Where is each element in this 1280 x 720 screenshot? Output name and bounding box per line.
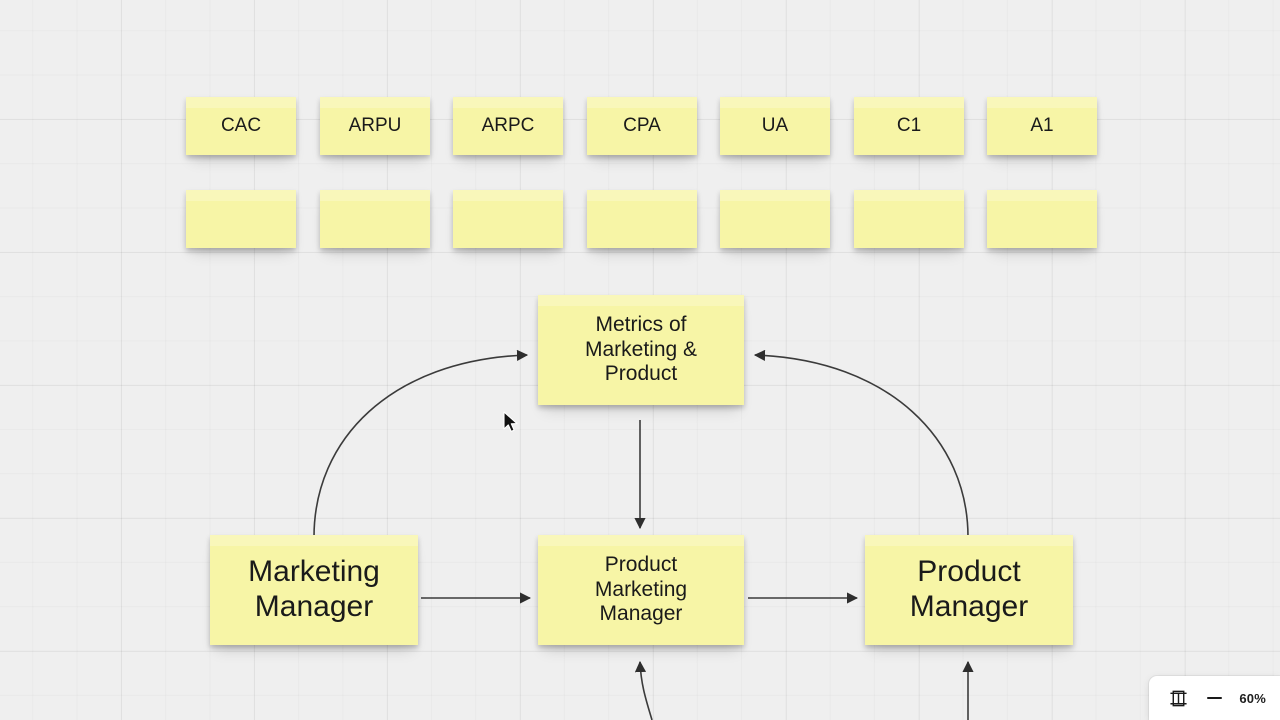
sticky-note-metrics-of-marketing-and-product[interactable]: Metrics of Marketing & Product: [538, 295, 744, 405]
sticky-note-cpa[interactable]: CPA: [587, 97, 697, 155]
fit-to-screen-icon[interactable]: [1167, 687, 1189, 709]
sticky-note-label: Product Marketing Manager: [589, 553, 693, 626]
sticky-note-ua[interactable]: UA: [720, 97, 830, 155]
sticky-note-label: Metrics of Marketing & Product: [579, 313, 703, 386]
sticky-note-arpc[interactable]: ARPC: [453, 97, 563, 155]
zoom-level-label[interactable]: 60%: [1239, 691, 1266, 706]
sticky-note-arpu[interactable]: ARPU: [320, 97, 430, 155]
sticky-note-product-manager[interactable]: Product Manager: [865, 535, 1073, 645]
sticky-note-empty-5[interactable]: [720, 190, 830, 248]
sticky-note-label: Marketing Manager: [242, 555, 386, 625]
sticky-note-empty-4[interactable]: [587, 190, 697, 248]
sticky-note-c1[interactable]: C1: [854, 97, 964, 155]
sticky-note-empty-6[interactable]: [854, 190, 964, 248]
sticky-note-label: A1: [1024, 115, 1059, 137]
connector-product-manager-to-metrics: [755, 355, 968, 537]
sticky-note-cac[interactable]: CAC: [186, 97, 296, 155]
sticky-note-product-marketing-manager[interactable]: Product Marketing Manager: [538, 535, 744, 645]
sticky-note-label: CAC: [215, 115, 267, 137]
sticky-note-label: C1: [891, 115, 927, 137]
whiteboard-canvas[interactable]: CAC ARPU ARPC CPA UA C1 A1: [0, 0, 1280, 720]
zoom-controls[interactable]: 60%: [1149, 676, 1280, 720]
sticky-note-label: ARPC: [476, 115, 541, 137]
sticky-note-empty-7[interactable]: [987, 190, 1097, 248]
sticky-note-empty-1[interactable]: [186, 190, 296, 248]
connector-marketing-manager-to-metrics: [314, 355, 527, 537]
sticky-note-label: Product Manager: [904, 555, 1034, 625]
sticky-note-empty-3[interactable]: [453, 190, 563, 248]
sticky-note-label: CPA: [617, 115, 667, 137]
minus-icon: [1207, 697, 1222, 699]
zoom-out-button[interactable]: [1203, 687, 1225, 709]
mouse-pointer-icon: [503, 411, 521, 435]
sticky-note-label: ARPU: [343, 115, 408, 137]
sticky-note-empty-2[interactable]: [320, 190, 430, 248]
connector-offscreen-to-product-marketing-manager: [640, 662, 652, 720]
sticky-note-label: UA: [756, 115, 794, 137]
sticky-note-marketing-manager[interactable]: Marketing Manager: [210, 535, 418, 645]
sticky-note-a1[interactable]: A1: [987, 97, 1097, 155]
